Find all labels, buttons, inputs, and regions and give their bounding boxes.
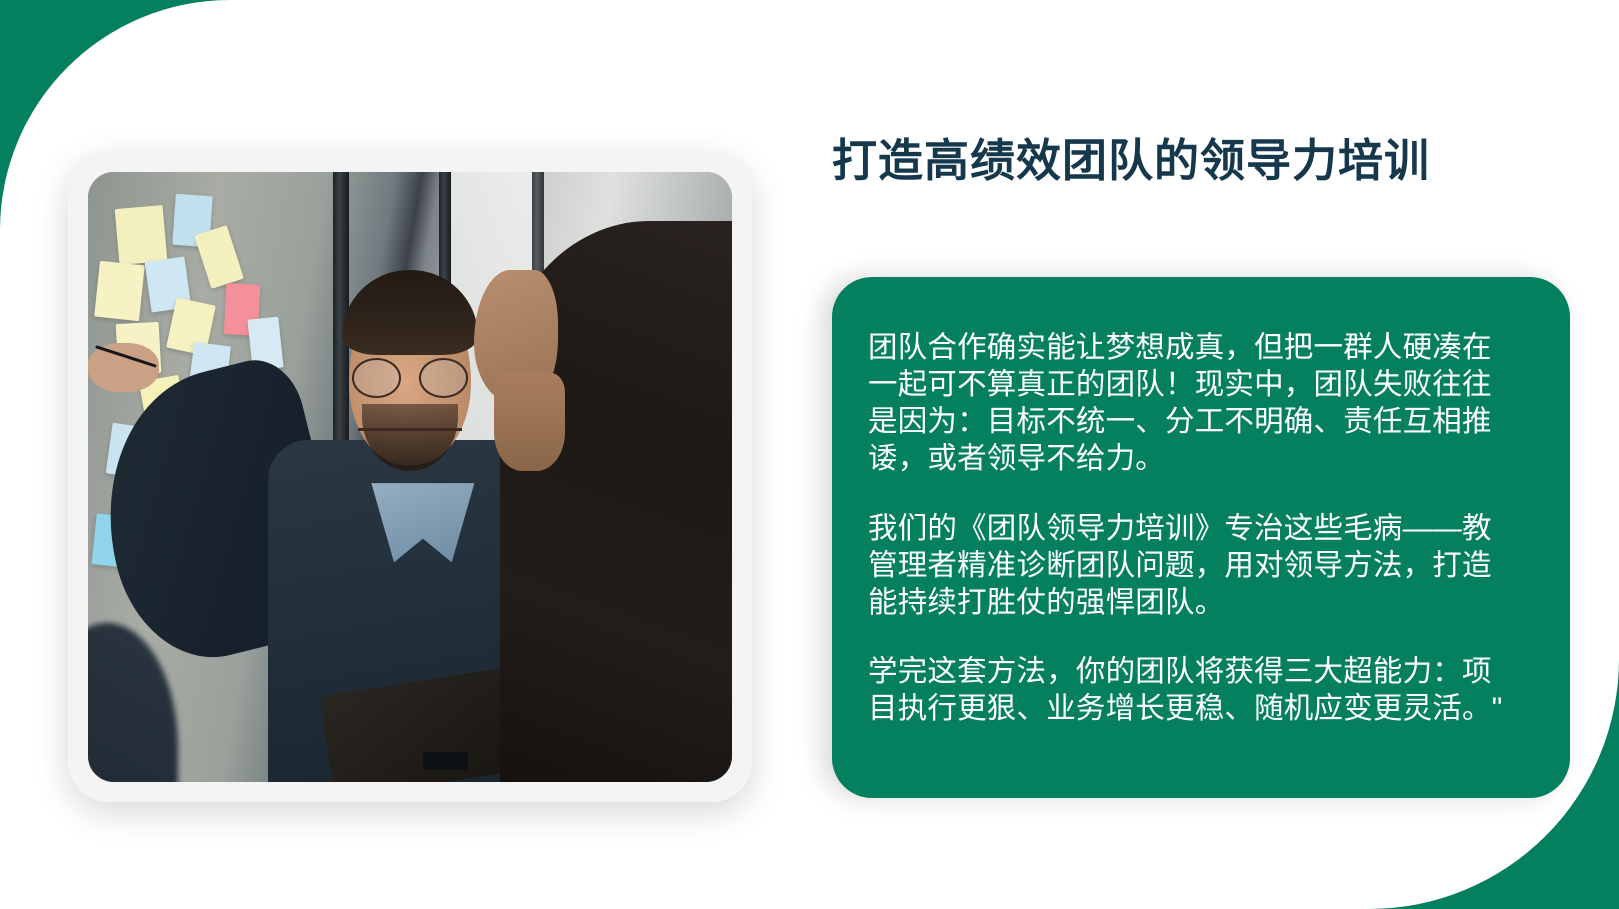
photo-man-glasses xyxy=(352,358,468,398)
photo-wristwatch xyxy=(423,752,468,770)
description-body: 团队合作确实能让梦想成真，但把一群人硬凑在一起可不算真正的团队！现实中，团队失败… xyxy=(868,329,1512,727)
photo-glasses-bridge xyxy=(358,428,461,430)
team-photo xyxy=(88,172,732,782)
photo-glasses-lens-left xyxy=(352,358,401,398)
description-paragraph-2: 我们的《团队领导力培训》专治这些毛病——教管理者精准诊断团队问题，用对领导方法，… xyxy=(868,510,1512,621)
description-card: 团队合作确实能让梦想成真，但把一群人硬凑在一起可不算真正的团队！现实中，团队失败… xyxy=(832,277,1570,798)
page-title: 打造高绩效团队的领导力培训 xyxy=(832,134,1572,189)
photo-woman-neck xyxy=(494,373,565,471)
photo-glasses-lens-right xyxy=(419,358,468,398)
description-paragraph-3: 学完这套方法，你的团队将获得三大超能力：项目执行更狠、业务增长更稳、随机应变更灵… xyxy=(868,653,1512,727)
slide-root: 打造高绩效团队的领导力培训 团队合作确实能让梦想成真，但把一群人硬凑在一起可不算… xyxy=(0,0,1619,909)
photo-man-hand xyxy=(88,343,159,392)
description-paragraph-1: 团队合作确实能让梦想成真，但把一群人硬凑在一起可不算真正的团队！现实中，团队失败… xyxy=(868,329,1512,478)
photo-frame xyxy=(68,152,752,802)
